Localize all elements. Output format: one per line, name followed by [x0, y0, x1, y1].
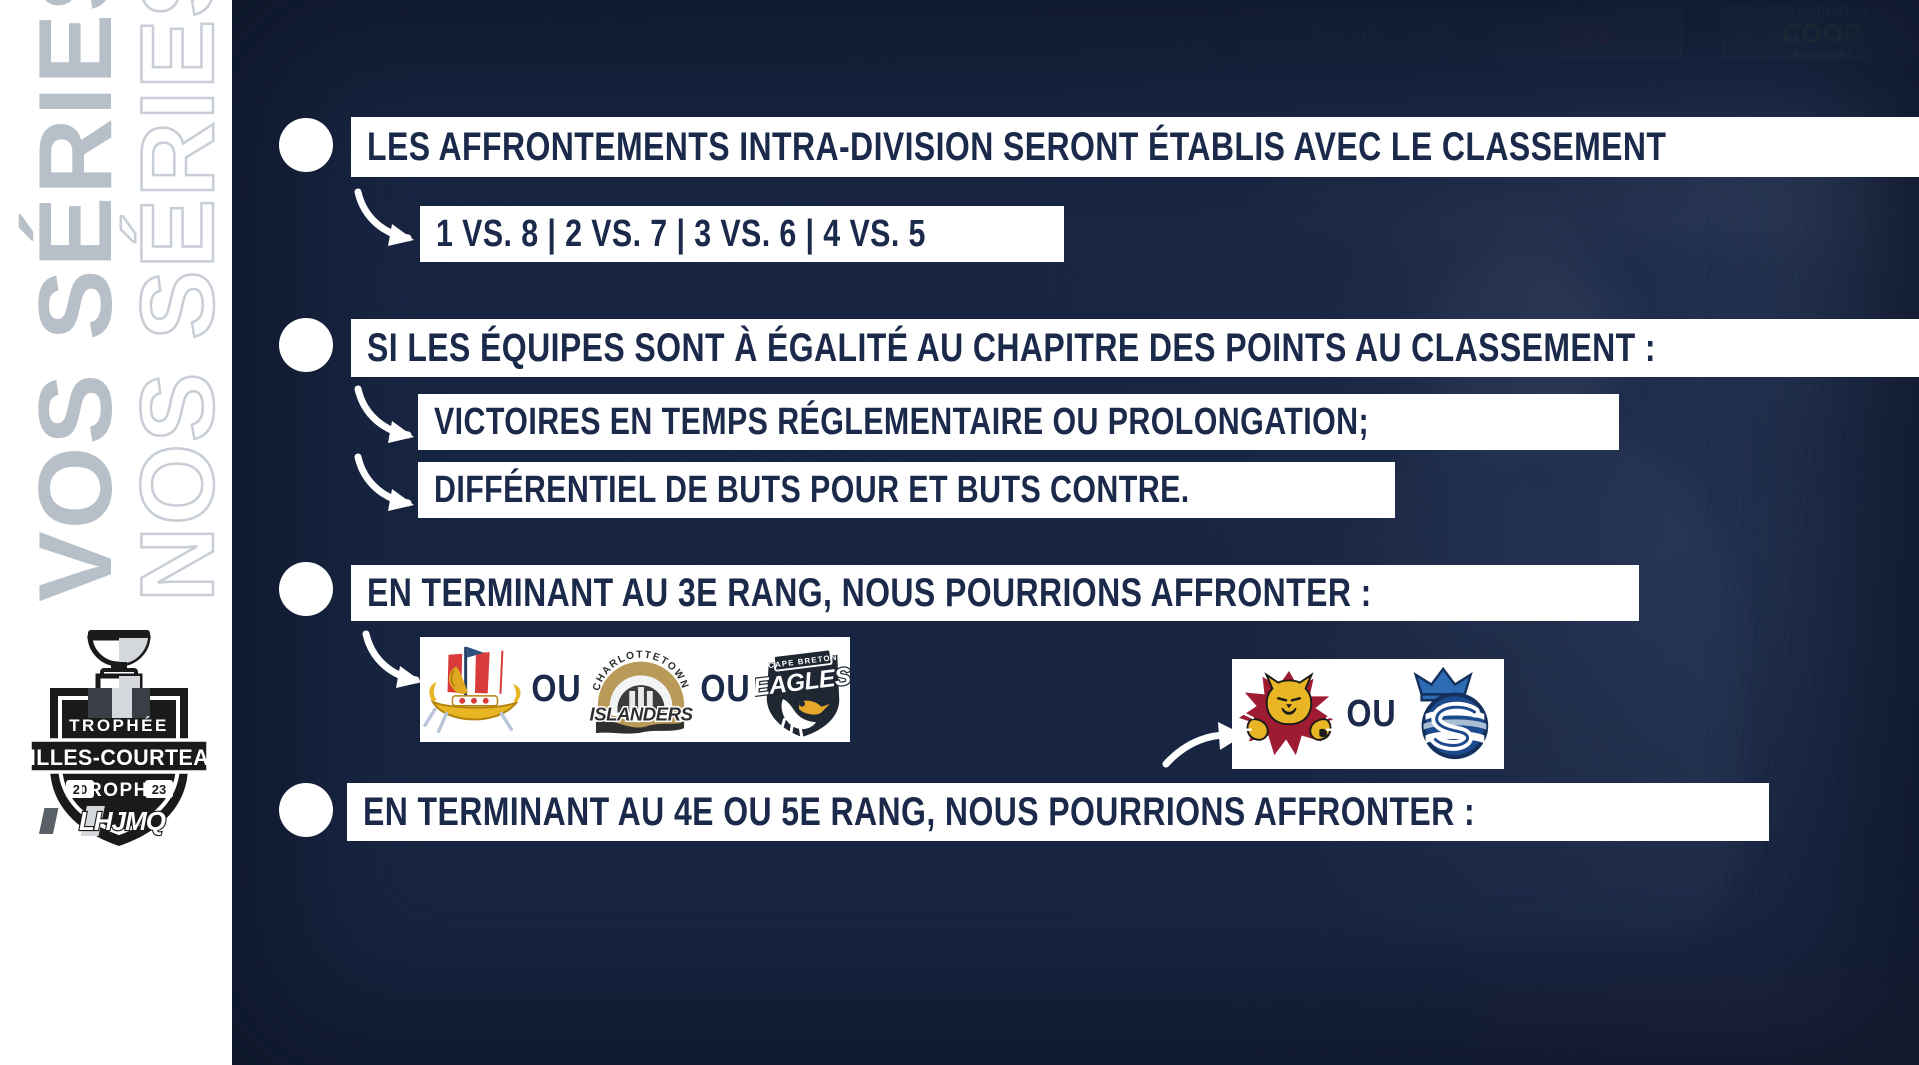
row-3-headline-text: EN TERMINANT AU 3E RANG, NOUS POURRIONS …: [367, 571, 1372, 616]
eagles-icon: CAPE BRETON EAGLES: [755, 641, 851, 739]
row-2-subitem-2: DIFFÉRENTIEL DE BUTS POUR ET BUTS CONTRE…: [418, 462, 1395, 518]
wildcats-icon: [1237, 665, 1341, 763]
poster-canvas: TELUS jura Alimentation COOP Rimouski VO…: [0, 0, 1919, 1065]
row-1-headline: LES AFFRONTEMENTS INTRA-DIVISION SERONT …: [351, 117, 1919, 177]
arrow-row-1-sub-1: [352, 188, 424, 250]
content-layer: LES AFFRONTEMENTS INTRA-DIVISION SERONT …: [0, 0, 1919, 1065]
row-1-subitem-1-text: 1 VS. 8 | 2 VS. 7 | 3 VS. 6 | 4 VS. 5: [436, 213, 926, 256]
islanders-wordmark: ISLANDERS: [590, 703, 694, 724]
drakkar-ship-icon: [419, 641, 527, 739]
opponents-rank3-box: OU CHARLOTTETOWN: [420, 637, 850, 742]
bullet-row-2: [279, 318, 333, 372]
team-logo-drakkar: [419, 640, 527, 740]
row-1-headline-text: LES AFFRONTEMENTS INTRA-DIVISION SERONT …: [367, 125, 1666, 170]
row-4-headline-text: EN TERMINANT AU 4E OU 5E RANG, NOUS POUR…: [363, 790, 1475, 835]
row-2-subitem-1: VICTOIRES EN TEMPS RÉGLEMENTAIRE OU PROL…: [418, 394, 1619, 450]
arrow-row-2-sub-1: [352, 385, 424, 447]
team-logo-eagles: CAPE BRETON EAGLES: [755, 640, 851, 740]
opponents-rank45-box: OU: [1232, 659, 1504, 769]
team-logo-wildcats: [1236, 664, 1342, 764]
row-2-headline: SI LES ÉQUIPES SONT À ÉGALITÉ AU CHAPITR…: [351, 319, 1919, 377]
row-2-headline-text: SI LES ÉQUIPES SONT À ÉGALITÉ AU CHAPITR…: [367, 326, 1656, 371]
bullet-row-4: [279, 783, 333, 837]
row-4-headline: EN TERMINANT AU 4E OU 5E RANG, NOUS POUR…: [347, 783, 1769, 841]
seadogs-icon: [1402, 665, 1500, 763]
opponents-rank45-separator: OU: [1346, 693, 1396, 736]
row-2-subitem-1-text: VICTOIRES EN TEMPS RÉGLEMENTAIRE OU PROL…: [434, 401, 1369, 444]
team-logo-islanders: CHARLOTTETOWN ISLANDERS: [586, 643, 696, 737]
team-logo-seadogs: [1401, 664, 1501, 764]
bullet-row-3: [279, 562, 333, 616]
row-2-subitem-2-text: DIFFÉRENTIEL DE BUTS POUR ET BUTS CONTRE…: [434, 469, 1190, 512]
row-3-headline: EN TERMINANT AU 3E RANG, NOUS POURRIONS …: [351, 565, 1639, 621]
opponents-rank3-separator-2: OU: [700, 668, 750, 711]
opponents-rank3-separator-1: OU: [531, 668, 581, 711]
islanders-icon: CHARLOTTETOWN ISLANDERS: [586, 644, 696, 736]
bullet-row-1: [279, 118, 333, 172]
arrow-row-2-sub-2: [352, 453, 424, 515]
row-1-subitem-1: 1 VS. 8 | 2 VS. 7 | 3 VS. 6 | 4 VS. 5: [420, 206, 1064, 262]
